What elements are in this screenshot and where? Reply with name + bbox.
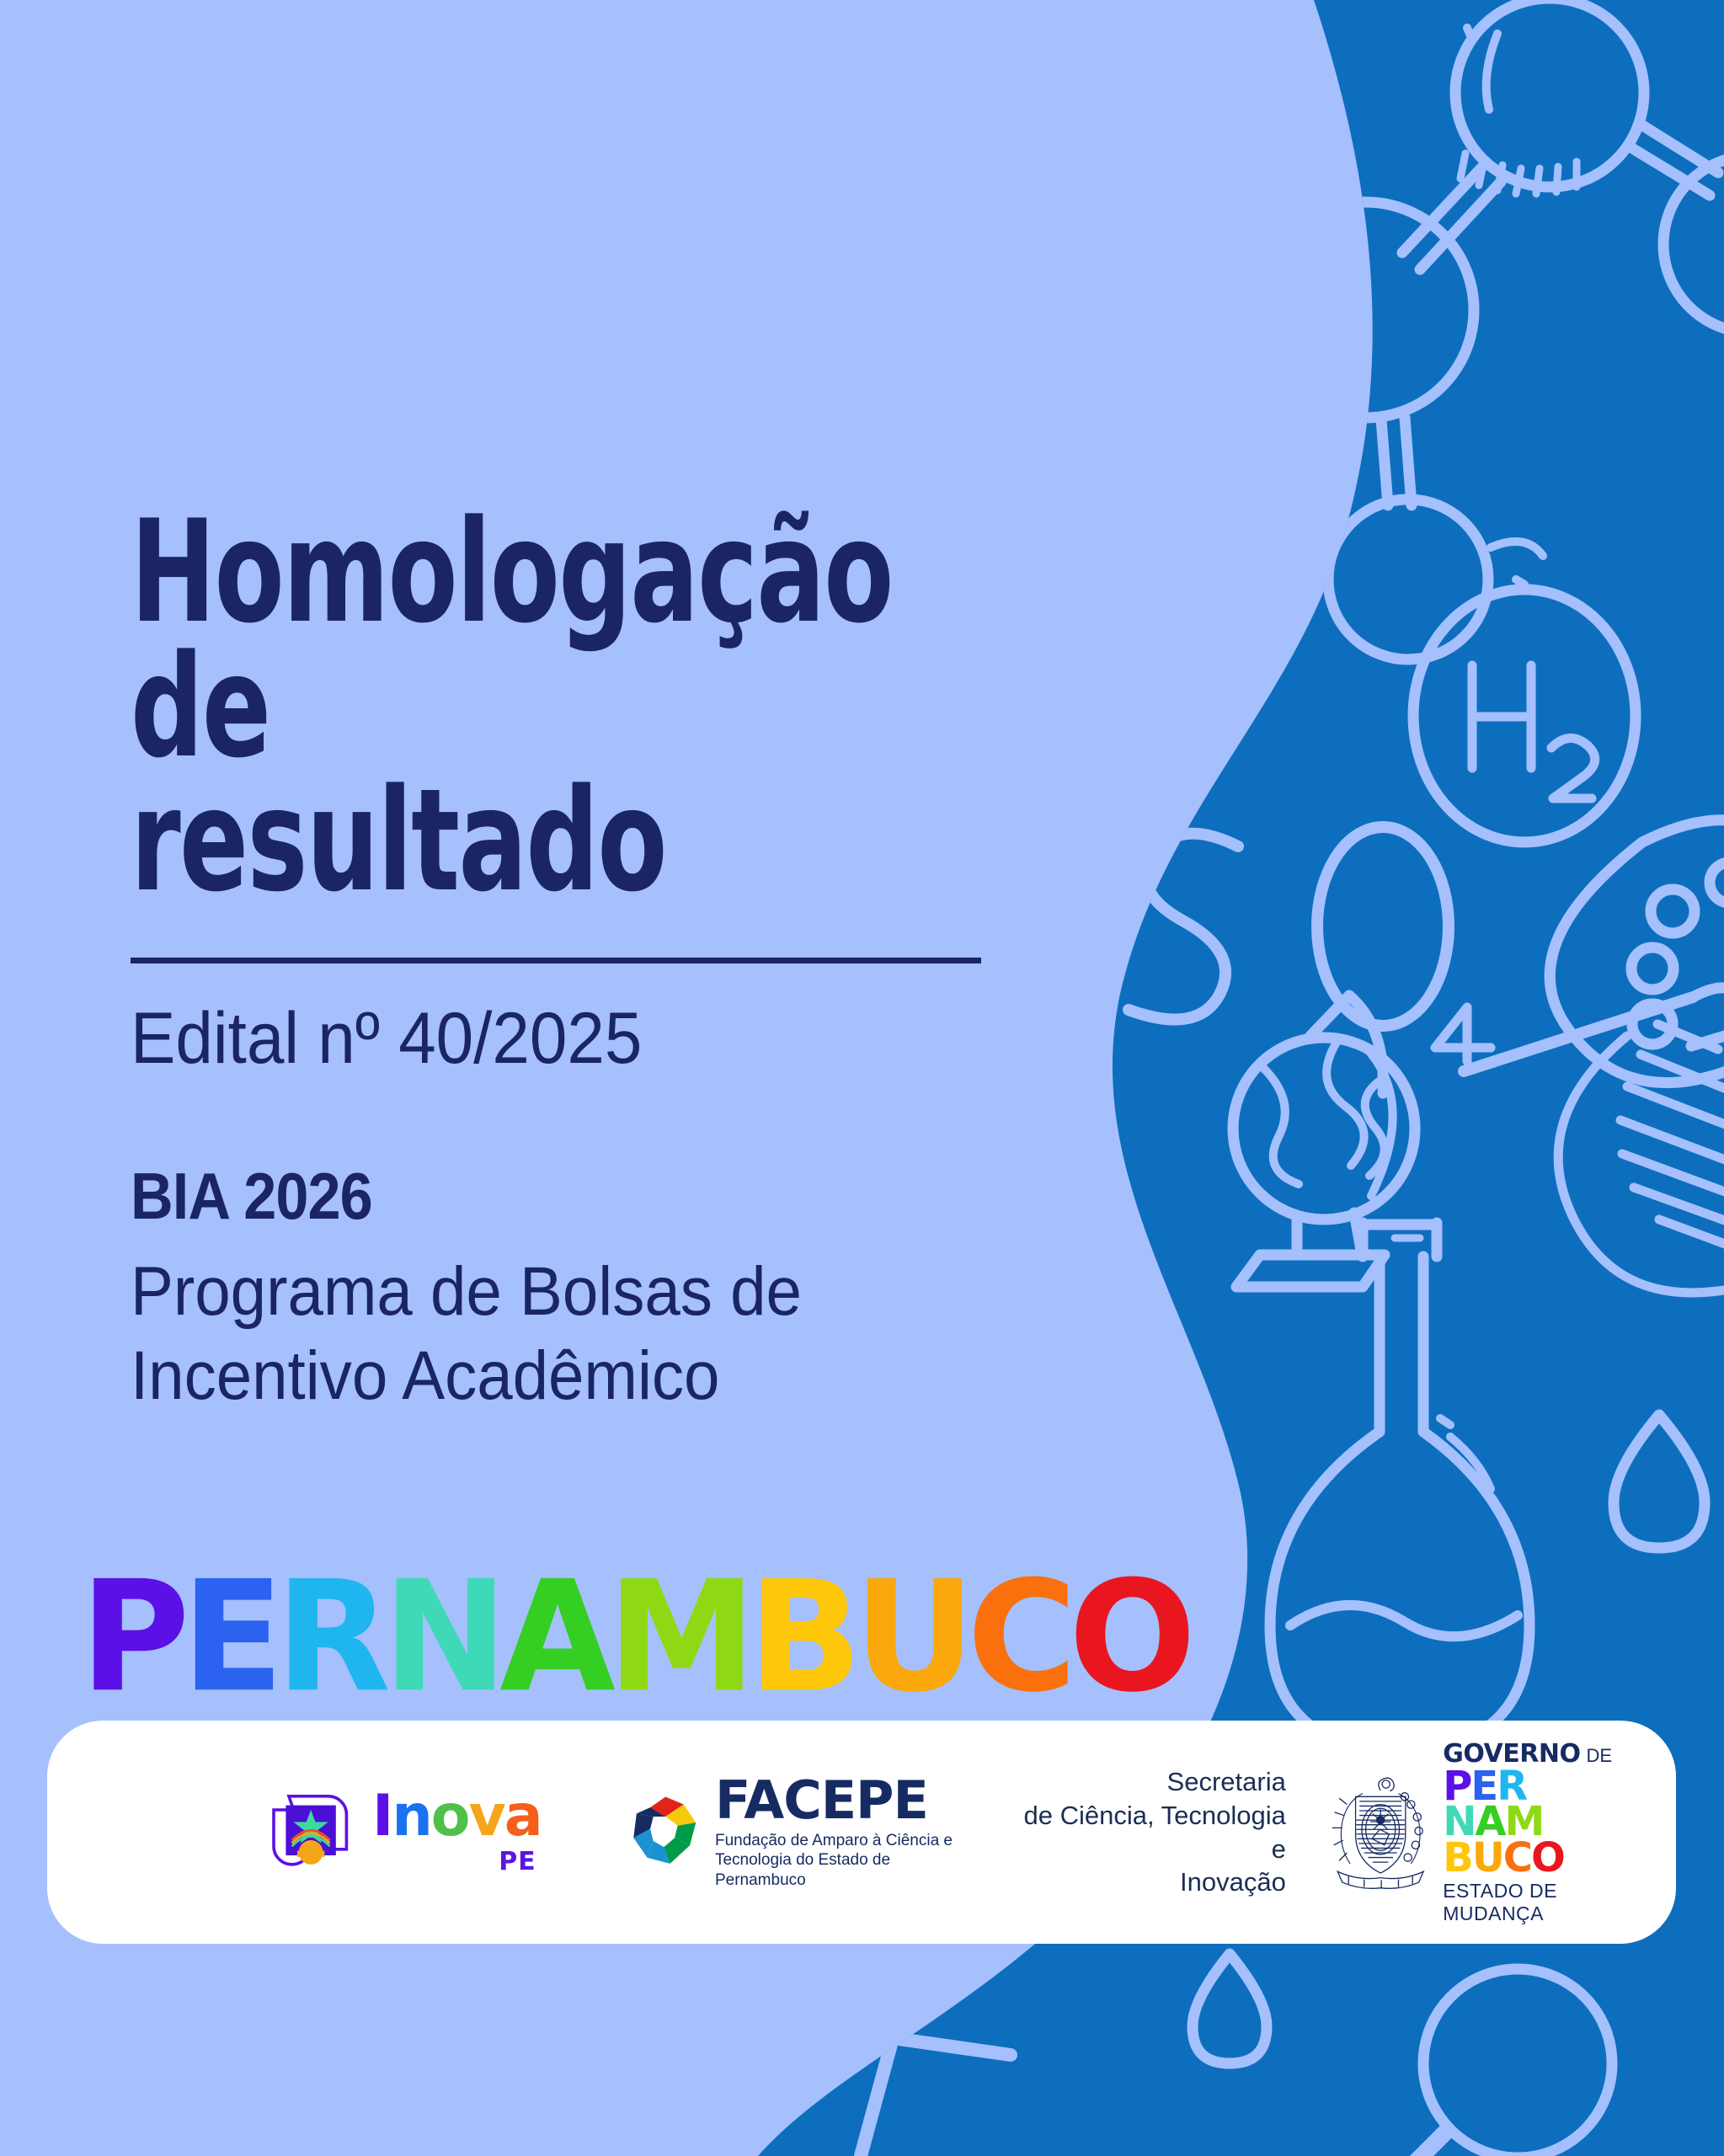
- wordmark-letter-r-2: R: [275, 1561, 382, 1714]
- divider-rule: [131, 958, 981, 963]
- inova-letter-1: n: [392, 1788, 430, 1845]
- wordmark-letter-c-8: C: [967, 1561, 1069, 1714]
- facepe-logo: FACEPE Fundação de Amparo à Ciência e Te…: [627, 1774, 969, 1890]
- poster-root: Homologação de resultado Edital nº 40/20…: [0, 0, 1724, 2156]
- wordmark-letter-u-7: U: [854, 1561, 968, 1714]
- page-title: Homologação de resultado: [131, 505, 926, 909]
- coat-of-arms-icon: [1330, 1769, 1431, 1895]
- secretaria-label: Secretaria de Ciência, Tecnologia e Inov…: [1018, 1765, 1286, 1899]
- inova-text-block: Inova PE: [372, 1788, 542, 1876]
- program-code: BIA 2026: [131, 1158, 1025, 1235]
- pernambuco-wordmark: PERNAMBUCO: [80, 1562, 1188, 1712]
- facepe-emblem-icon: [627, 1791, 703, 1872]
- facepe-tagline: Fundação de Amparo à Ciência e Tecnologi…: [715, 1831, 969, 1890]
- governo-letter-2-3: O: [1531, 1840, 1564, 1876]
- footer-logo-bar: Inova PE FACEPE: [47, 1721, 1676, 1944]
- inova-letter-4: a: [504, 1788, 542, 1845]
- governo-letter-2-2: C: [1503, 1840, 1531, 1876]
- governo-letter-2-1: U: [1472, 1840, 1503, 1876]
- inova-wordmark: Inova: [372, 1788, 542, 1845]
- governo-tagline: ESTADO DE MUDANÇA: [1443, 1880, 1651, 1925]
- governo-letter-2-0: B: [1443, 1840, 1472, 1876]
- governo-text-block: GOVERNO DE PERNAMBUCO ESTADO DE MUDANÇA: [1443, 1739, 1651, 1925]
- facepe-text-block: FACEPE Fundação de Amparo à Ciência e Te…: [715, 1774, 969, 1890]
- governo-row-2: BUCO: [1443, 1840, 1564, 1876]
- wordmark-letter-p-0: P: [80, 1561, 181, 1714]
- wordmark-letter-n-3: N: [382, 1561, 499, 1714]
- wordmark-letter-m-5: M: [607, 1561, 748, 1714]
- inova-letter-2: o: [431, 1788, 469, 1845]
- wordmark-letter-o-9: O: [1069, 1561, 1188, 1714]
- inova-emblem-icon: [266, 1787, 357, 1878]
- inova-letter-0: I: [372, 1788, 392, 1845]
- wordmark-letter-a-4: A: [499, 1561, 607, 1714]
- governo-de-word: DE: [1586, 1745, 1612, 1767]
- edital-number: Edital nº 40/2025: [131, 997, 1054, 1081]
- headline-block: Homologação de resultado Edital nº 40/20…: [131, 505, 1124, 1418]
- governo-pernambuco-stack: PERNAMBUCO: [1443, 1769, 1564, 1876]
- inova-pe-sub: PE: [499, 1847, 536, 1876]
- wordmark-letter-b-6: B: [748, 1561, 854, 1714]
- wordmark-letter-e-1: E: [181, 1561, 275, 1714]
- governo-pernambuco-logo: GOVERNO DE PERNAMBUCO ESTADO DE MUDANÇA: [1330, 1739, 1651, 1925]
- inova-letter-3: v: [468, 1788, 504, 1845]
- facepe-name: FACEPE: [715, 1774, 969, 1827]
- program-description: Programa de Bolsas de Incentivo Acadêmic…: [131, 1250, 1054, 1418]
- inova-pe-logo: Inova PE: [266, 1787, 542, 1878]
